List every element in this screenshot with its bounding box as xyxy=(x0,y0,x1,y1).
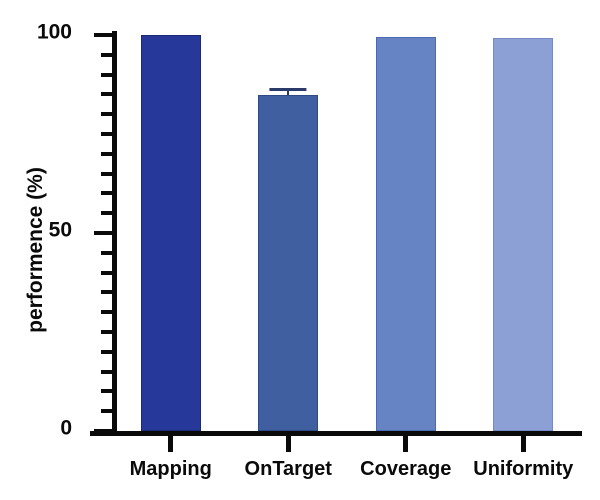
x-axis-tick xyxy=(403,436,408,452)
y-axis-tick-label: 0 xyxy=(60,417,72,441)
y-axis-minor-tick xyxy=(101,191,112,195)
bar xyxy=(493,38,553,431)
y-axis-minor-tick xyxy=(101,112,112,116)
x-axis-tick-label: Uniformity xyxy=(473,458,573,481)
x-axis-tick-label: OnTarget xyxy=(245,458,332,481)
y-axis-minor-tick xyxy=(101,152,112,156)
y-axis-major-tick: 50 xyxy=(94,231,112,235)
y-axis-minor-tick xyxy=(101,251,112,255)
x-axis-tick-label: Coverage xyxy=(360,458,451,481)
y-axis-minor-tick xyxy=(101,370,112,374)
y-axis-minor-tick xyxy=(101,172,112,176)
y-axis-spine xyxy=(112,31,117,435)
y-axis-major-tick: 100 xyxy=(94,33,112,37)
y-axis-minor-tick xyxy=(101,290,112,294)
y-axis-minor-tick xyxy=(101,73,112,77)
chart-canvas: performence (%) 050100 MappingOnTargetCo… xyxy=(0,0,600,500)
y-axis-minor-tick xyxy=(101,92,112,96)
error-bar-cap xyxy=(270,88,307,91)
y-axis-tick-label: 100 xyxy=(37,21,72,45)
x-axis-tick xyxy=(521,436,526,452)
y-axis-minor-tick xyxy=(101,409,112,413)
y-axis-minor-tick xyxy=(101,53,112,57)
y-axis-minor-tick xyxy=(101,271,112,275)
x-axis-tick-label: Mapping xyxy=(130,458,212,481)
y-axis-title: performence (%) xyxy=(14,0,58,500)
bar xyxy=(376,37,436,431)
x-axis-tick xyxy=(286,436,291,452)
y-axis-minor-tick xyxy=(101,350,112,354)
y-axis-minor-tick xyxy=(101,310,112,314)
y-axis-minor-tick xyxy=(101,330,112,334)
x-axis-tick xyxy=(168,436,173,452)
x-axis-spine xyxy=(90,431,582,436)
y-axis-minor-tick xyxy=(101,211,112,215)
y-axis-minor-tick xyxy=(101,389,112,393)
y-axis-tick-label: 50 xyxy=(49,219,72,243)
y-axis-minor-tick xyxy=(101,132,112,136)
bar xyxy=(258,95,318,431)
bar xyxy=(141,35,201,431)
y-axis-major-tick: 0 xyxy=(94,429,112,433)
plot-area: 050100 MappingOnTargetCoverageUniformity xyxy=(112,35,582,431)
